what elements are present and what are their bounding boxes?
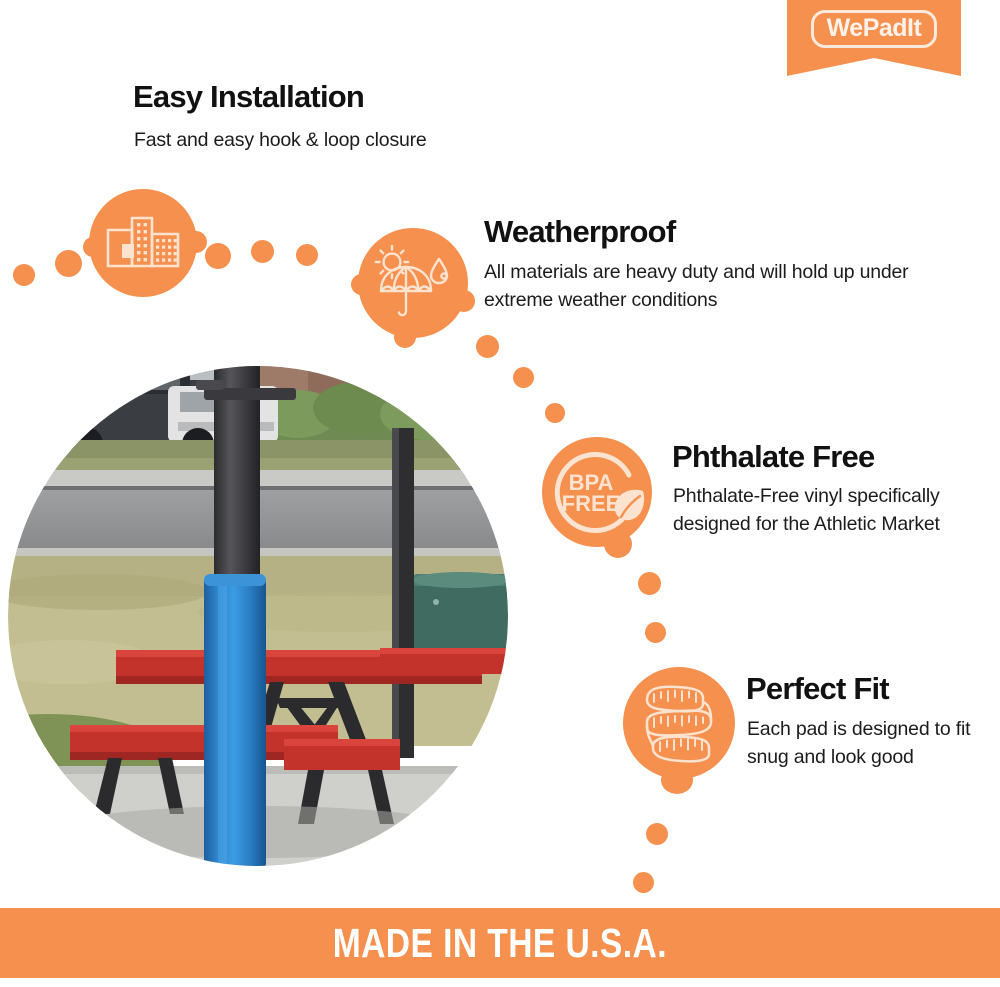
bpa-free-leaf-icon: BPA FREE <box>547 445 647 539</box>
brand-logo-badge: WePadIt <box>787 0 961 58</box>
feature-title-perfect-fit: Perfect Fit <box>746 672 889 706</box>
made-in-usa-text: MADE IN THE U.S.A. <box>333 920 667 967</box>
path-dot <box>545 403 565 423</box>
feature-description-easy-installation: Fast and easy hook & loop closure <box>134 126 564 154</box>
bubble-blob-knob <box>185 231 207 253</box>
path-dot <box>251 240 274 263</box>
path-dot <box>513 367 534 388</box>
feature-title-easy-installation: Easy Installation <box>133 80 364 114</box>
logo-frame: WePadIt <box>811 10 938 48</box>
path-dot <box>13 264 35 286</box>
path-dot <box>476 335 499 358</box>
infographic-page: WePadIt Easy Installation Fast and easy … <box>0 0 1000 987</box>
path-dot <box>645 622 666 643</box>
product-photo-pole-pad <box>8 362 508 870</box>
path-dot <box>633 872 654 893</box>
made-in-usa-banner: MADE IN THE U.S.A. <box>0 908 1000 978</box>
feature-title-phthalate-free: Phthalate Free <box>672 440 874 474</box>
bubble-blob-knob <box>351 274 372 295</box>
icon-bubble-weatherproof <box>358 228 468 338</box>
feature-description-phthalate-free: Phthalate-Free vinyl specifically design… <box>673 482 943 539</box>
bubble-blob-knob <box>83 237 103 257</box>
bubble-blob-knob <box>661 766 693 794</box>
logo-text: WePadIt <box>827 16 922 41</box>
path-dot <box>638 572 661 595</box>
measuring-tape-icon <box>637 678 721 768</box>
sun-umbrella-rain-icon <box>373 245 453 321</box>
path-dot <box>296 244 318 266</box>
path-dot <box>55 250 82 277</box>
icon-bubble-perfect-fit <box>623 667 735 779</box>
bubble-blob-knob <box>394 326 416 348</box>
feature-description-weatherproof: All materials are heavy duty and will ho… <box>484 258 914 315</box>
icon-bubble-easy-installation <box>89 189 197 297</box>
bubble-blob-knob <box>453 290 475 312</box>
feature-description-perfect-fit: Each pad is designed to fit snug and loo… <box>747 715 982 772</box>
path-dot <box>646 823 668 845</box>
feature-title-weatherproof: Weatherproof <box>484 215 675 249</box>
path-dot <box>205 243 231 269</box>
bpa-label-line2: FREE <box>562 491 621 516</box>
bubble-blob-knob <box>604 530 632 558</box>
building-peel-icon <box>104 208 182 278</box>
icon-bubble-phthalate-free: BPA FREE <box>542 437 652 547</box>
